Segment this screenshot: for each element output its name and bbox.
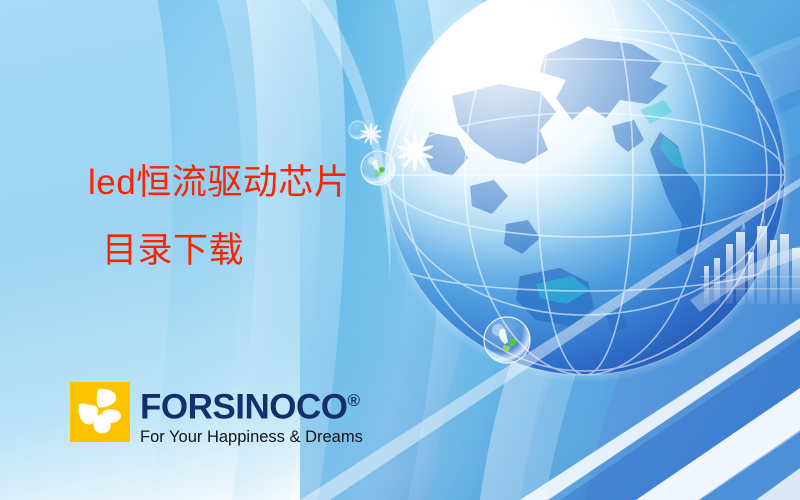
four-petal-flower-icon	[70, 382, 130, 442]
logo-wordmark: FORSINOCO®	[140, 384, 363, 425]
logo-tagline: For Your Happiness & Dreams	[140, 427, 363, 447]
headline-line-1: led恒流驱动芯片	[88, 162, 349, 204]
logo-mark	[70, 382, 130, 442]
headline-line-2: 目录下载	[102, 230, 349, 272]
company-logo[interactable]: FORSINOCO® For Your Happiness & Dreams	[70, 382, 363, 447]
registered-trademark-icon: ®	[347, 391, 359, 410]
logo-wordmark-text: FORSINOCO	[140, 388, 347, 427]
banner-image: led恒流驱动芯片 目录下载 FORSINOCO® For Your Happi…	[0, 0, 800, 500]
banner-headline: led恒流驱动芯片 目录下载	[88, 162, 349, 272]
logo-text-block: FORSINOCO® For Your Happiness & Dreams	[140, 382, 363, 447]
